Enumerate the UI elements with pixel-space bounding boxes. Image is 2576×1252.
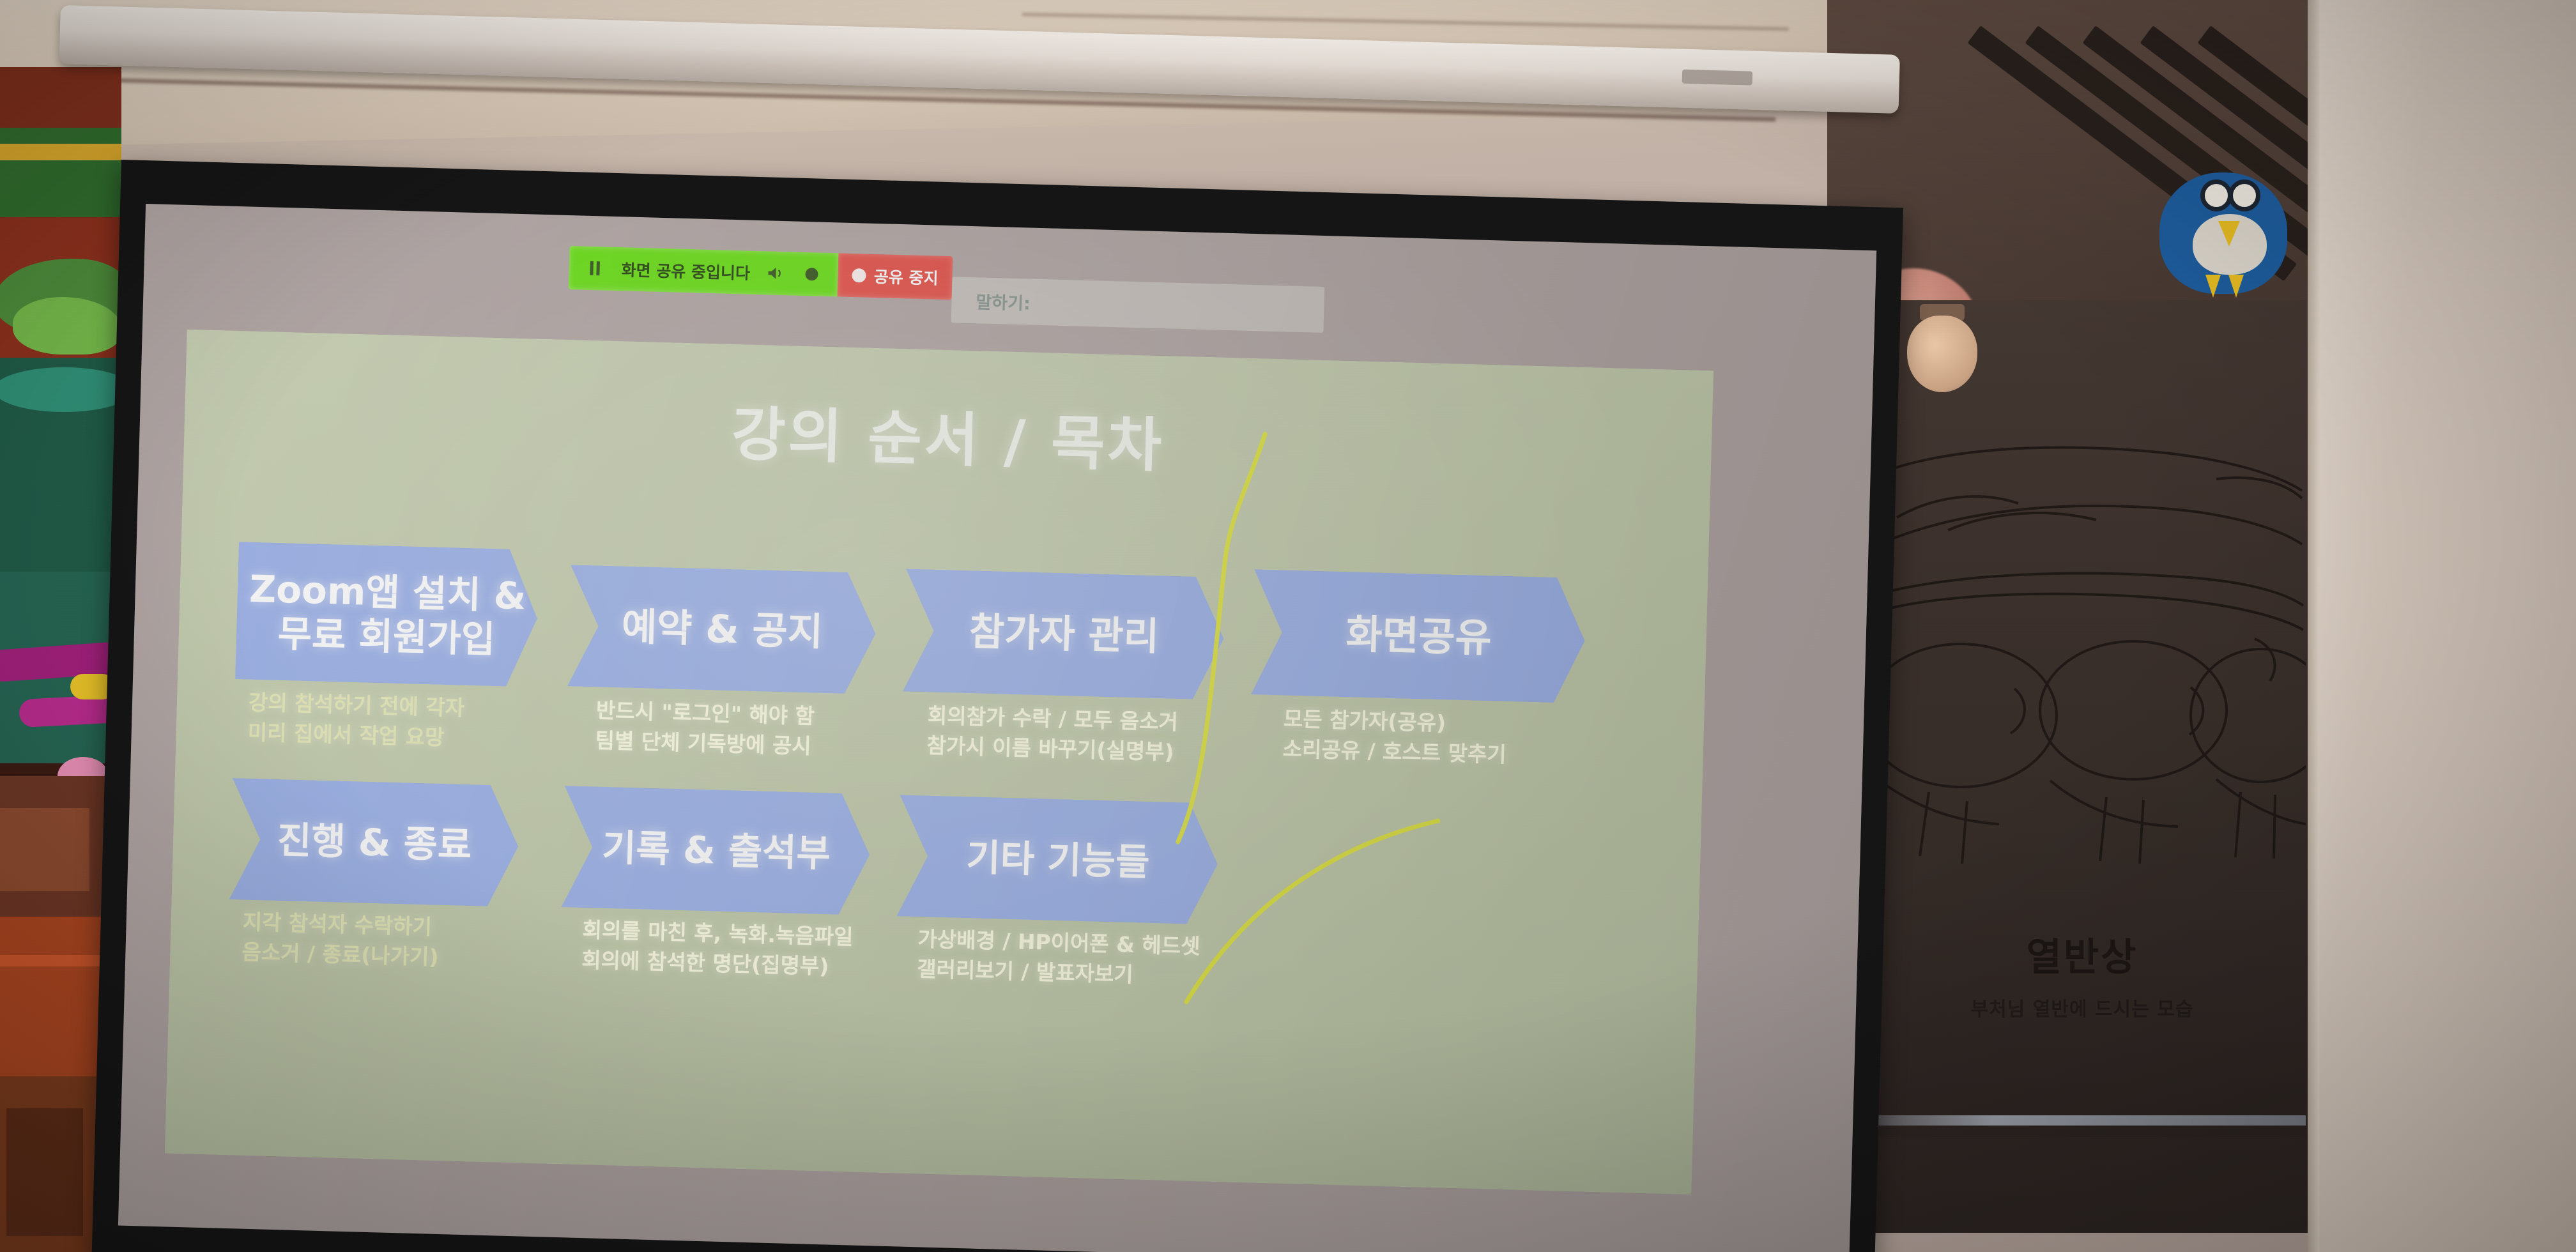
reclining-buddha-poster: 열반상 부처님 열반에 드시는 모습: [1850, 300, 2306, 1137]
wall-pillar: [2319, 0, 2576, 1252]
step-label-6: 기록 & 출석부: [562, 786, 871, 915]
stop-share-label: 공유 중지: [873, 264, 939, 289]
sharing-status-label: 화면 공유 중입니다: [621, 257, 750, 284]
step-chevron-group: Zoom앱 설치 & 무료 회원가입 강의 참석하기 전에 각자 미리 집에서 …: [165, 330, 1713, 1195]
presentation-slide: 강의 순서 / 목차 Zoom앱 설치 & 무료 회원가입 강의 참석하기 전에…: [165, 330, 1713, 1195]
video-icon[interactable]: [802, 264, 822, 284]
step-caption-1: 강의 참석하기 전에 각자 미리 집에서 작업 요망: [247, 688, 464, 754]
step-caption-2: 반드시 "로그인" 해야 함 팀별 단체 기독방에 공시: [595, 696, 815, 761]
blue-owl-icon: [2159, 172, 2287, 294]
step-caption-6: 회의를 마친 후, 녹화.녹음파일 회의에 참석한 명단(집명부): [581, 915, 854, 982]
screenshot-stage: 열반상 부처님 열반에 드시는 모습 화면 공유 중입니다: [0, 0, 2576, 1252]
stop-share-button[interactable]: 공유 중지: [838, 253, 953, 300]
step-label-4: 화면공유: [1251, 569, 1586, 703]
zoom-share-toolbar[interactable]: 화면 공유 중입니다 공유 중지: [569, 246, 953, 300]
poster-title: 열반상: [1878, 926, 2287, 982]
step-label-7: 기타 기능들: [896, 795, 1219, 924]
speaking-label: 말하기:: [976, 288, 1031, 314]
sharing-status-bar: 화면 공유 중입니다: [569, 246, 839, 296]
step-item-3[interactable]: 참가자 관리 회의참가 수락 / 모두 음소거 참가시 이름 바꾸기(실명부): [903, 569, 1225, 699]
offering-jar-icon: [1907, 316, 1977, 392]
speaker-icon[interactable]: [767, 263, 786, 283]
projected-screen: 화면 공유 중입니다 공유 중지 말하기: 강의 순서: [118, 204, 1876, 1252]
speaking-indicator: 말하기:: [951, 277, 1325, 333]
step-label-5: 진행 & 종료: [229, 778, 520, 907]
pause-icon[interactable]: [585, 259, 605, 279]
step-item-4[interactable]: 화면공유 모든 참가자(공유) 소리공유 / 호스트 맞추기: [1251, 569, 1586, 703]
record-dot-icon: [852, 268, 867, 283]
poster-subtitle: 부처님 열반에 드시는 모습: [1878, 993, 2287, 1021]
step-caption-5: 지각 참석자 수락하기 음소거 / 종료(나가기): [241, 908, 440, 973]
step-label-1: Zoom앱 설치 & 무료 회원가입: [235, 542, 539, 687]
step-label-3: 참가자 관리: [903, 569, 1225, 699]
projector-screen-frame: 화면 공유 중입니다 공유 중지 말하기: 강의 순서: [91, 160, 1903, 1252]
step-item-1[interactable]: Zoom앱 설치 & 무료 회원가입 강의 참석하기 전에 각자 미리 집에서 …: [235, 542, 539, 687]
step-label-2: 예약 & 공지: [567, 565, 877, 694]
step-item-6[interactable]: 기록 & 출석부 회의를 마친 후, 녹화.녹음파일 회의에 참석한 명단(집명…: [562, 786, 871, 915]
step-caption-3: 회의참가 수락 / 모두 음소거 참가시 이름 바꾸기(실명부): [926, 701, 1178, 767]
step-item-2[interactable]: 예약 & 공지 반드시 "로그인" 해야 함 팀별 단체 기독방에 공시: [567, 565, 877, 694]
step-item-5[interactable]: 진행 & 종료 지각 참석자 수락하기 음소거 / 종료(나가기): [229, 778, 520, 907]
step-item-7[interactable]: 기타 기능들 가상배경 / HP이어폰 & 헤드셋 갤러리보기 / 발표자보기: [896, 795, 1219, 924]
step-caption-4: 모든 참가자(공유) 소리공유 / 호스트 맞추기: [1282, 705, 1508, 770]
roller-label: [1682, 70, 1753, 86]
reclining-buddha-drawing: [1859, 383, 2306, 958]
step-caption-7: 가상배경 / HP이어폰 & 헤드셋 갤러리보기 / 발표자보기: [917, 924, 1201, 992]
